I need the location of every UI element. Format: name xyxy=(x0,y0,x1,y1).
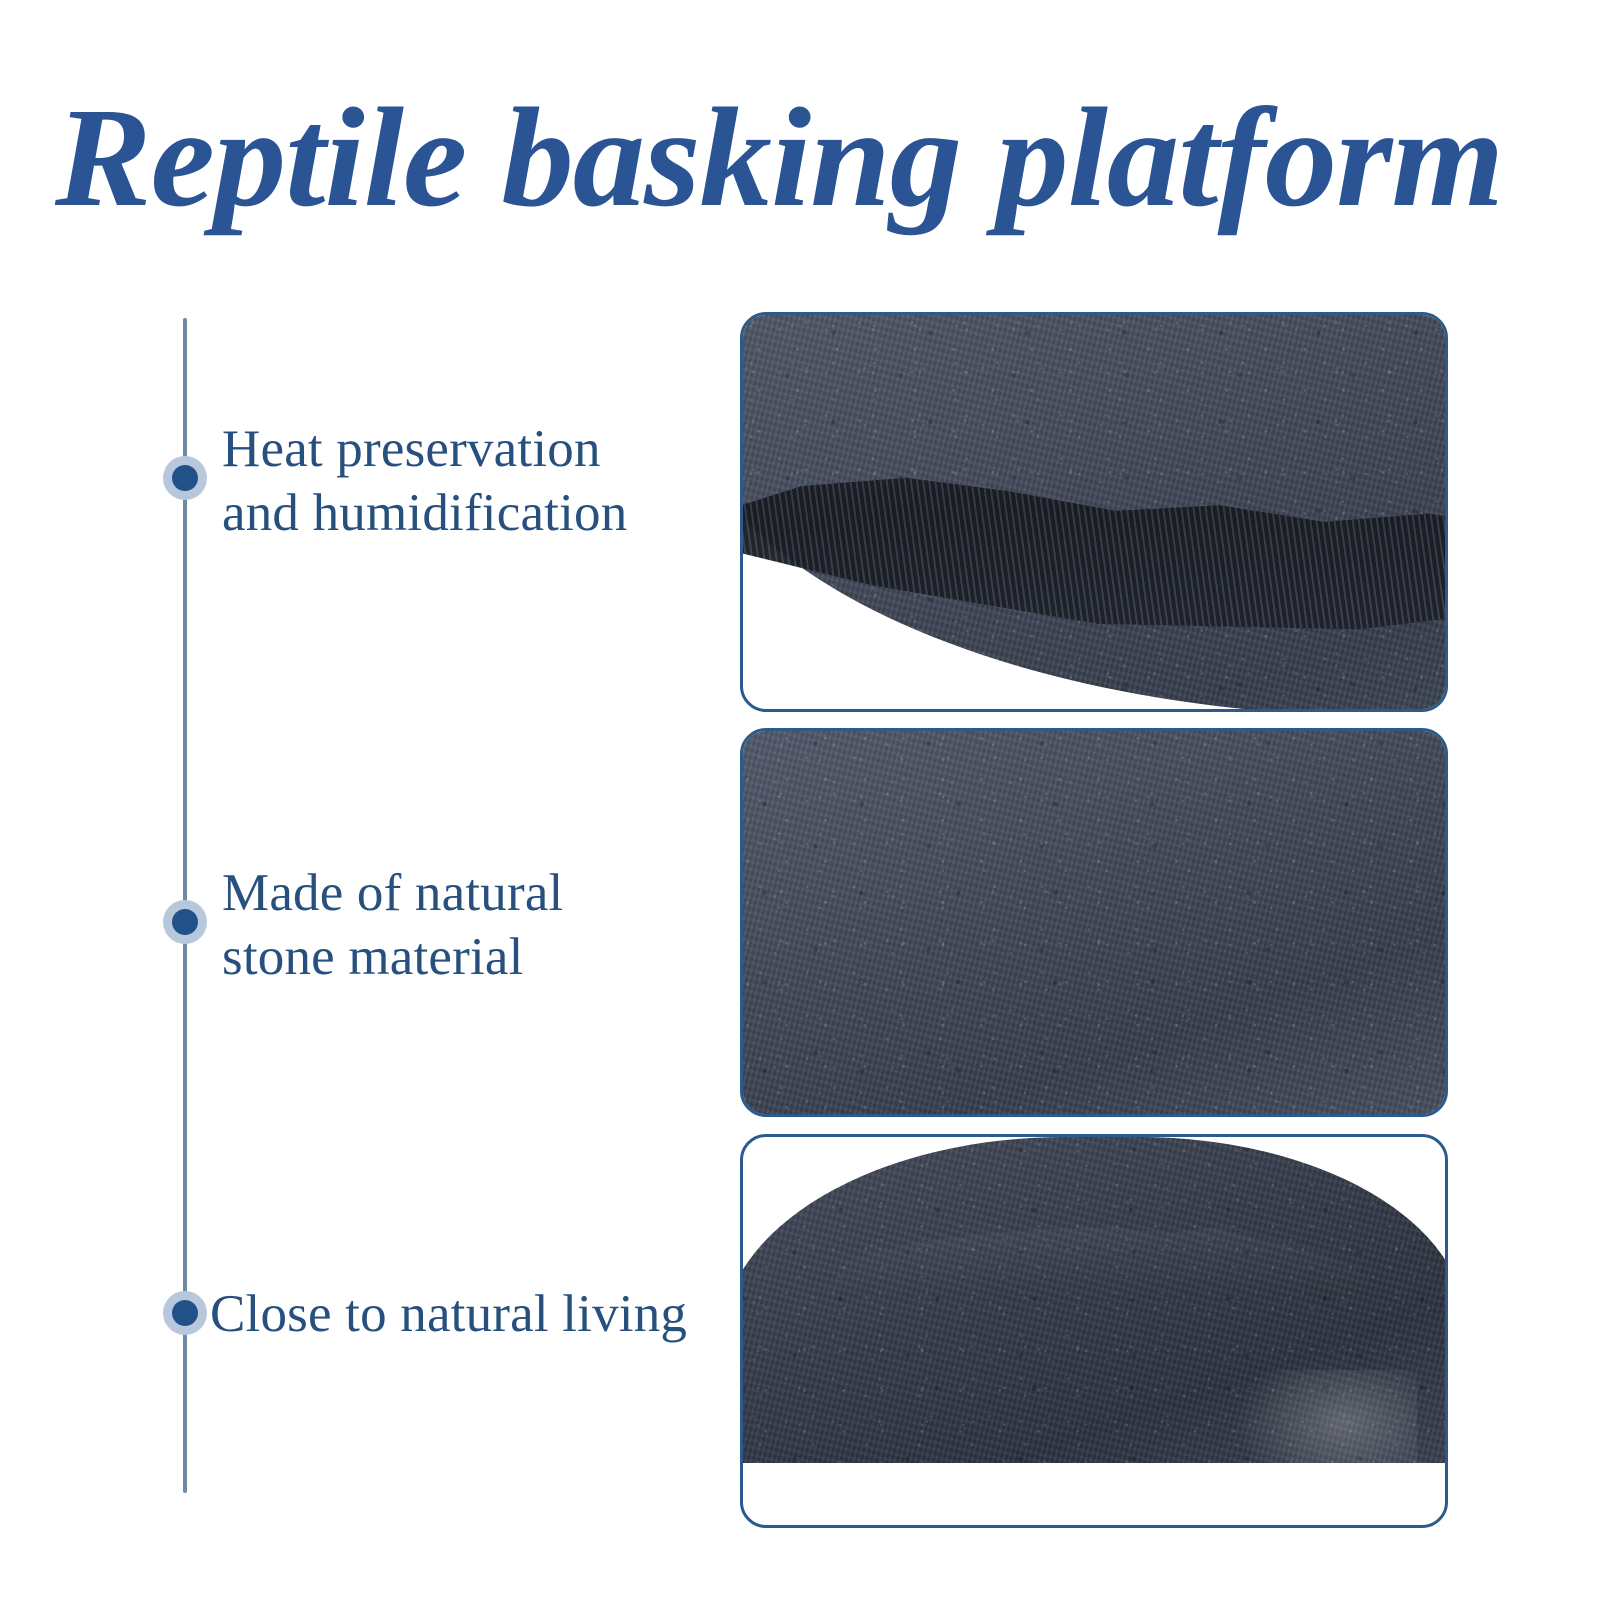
product-photo-panel-2 xyxy=(740,728,1448,1117)
product-photo-panel-3 xyxy=(740,1134,1448,1528)
feature-label-line: stone material xyxy=(222,926,563,990)
product-infographic: Reptile basking platform Heat preservati… xyxy=(0,0,1600,1600)
slate-surface-texture-image xyxy=(743,731,1445,1114)
feature-label-natural-stone: Made of natural stone material xyxy=(222,862,563,989)
timeline-bullet-3 xyxy=(163,1291,207,1335)
feature-label-line: and humidification xyxy=(222,482,627,546)
feature-label-line: Close to natural living xyxy=(210,1283,687,1347)
timeline-bullet-1 xyxy=(163,456,207,500)
stone-sheen-highlight xyxy=(1234,1370,1417,1502)
timeline-bullet-2 xyxy=(163,900,207,944)
page-title: Reptile basking platform xyxy=(55,86,1585,228)
feature-label-line: Heat preservation xyxy=(222,418,627,482)
feature-label-heat-preservation: Heat preservation and humidification xyxy=(222,418,627,545)
feature-label-line: Made of natural xyxy=(222,862,563,926)
feature-label-natural-living: Close to natural living xyxy=(210,1283,687,1347)
product-photo-panel-1 xyxy=(740,312,1448,712)
